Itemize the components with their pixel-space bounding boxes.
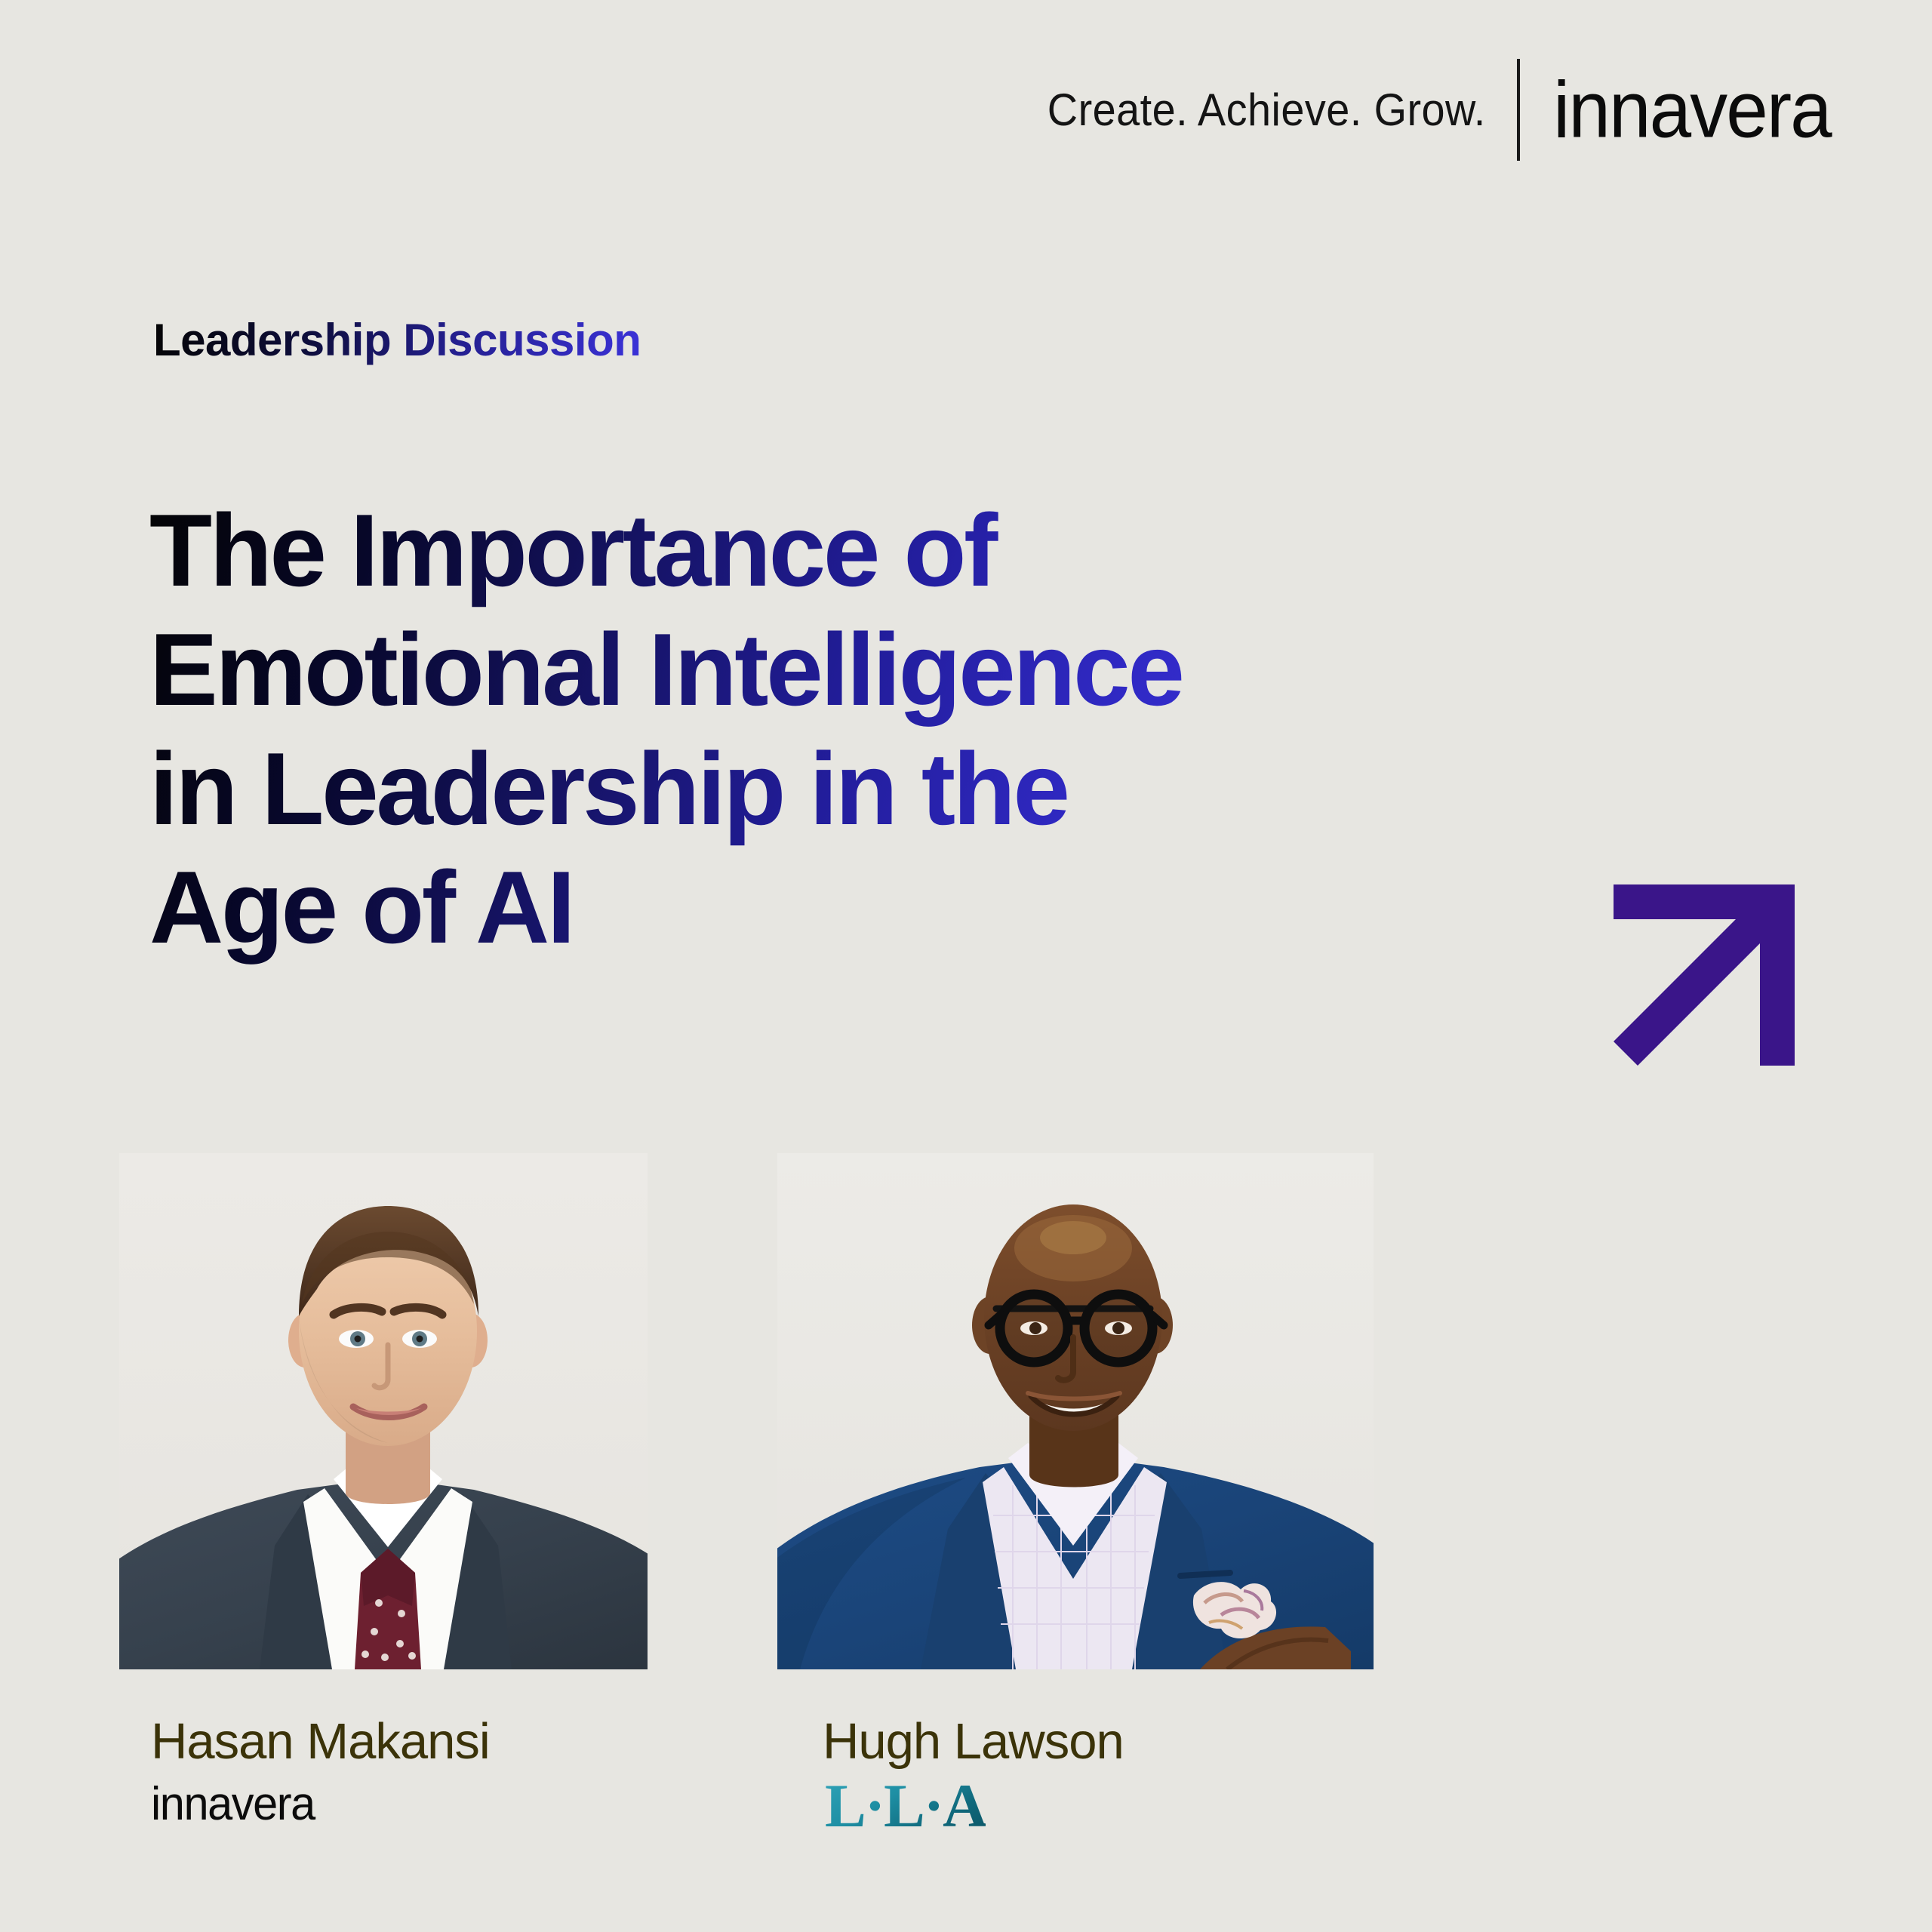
speaker-org-innavera: innavera xyxy=(151,1781,315,1828)
speaker-org-lla: L·L·A xyxy=(825,1775,986,1837)
brand-tagline: Create. Achieve. Grow. xyxy=(1048,88,1517,133)
speaker-name-hasan: Hasan Makansi xyxy=(151,1716,490,1767)
arrow-up-right-icon xyxy=(1603,874,1805,1076)
speaker-photo-hugh xyxy=(777,1153,1374,1669)
speaker-photo-hasan xyxy=(119,1153,648,1669)
brand-header: Create. Achieve. Grow. innavera xyxy=(1012,59,1844,161)
speaker-name-hugh: Hugh Lawson xyxy=(823,1716,1124,1767)
eyebrow-label: Leadership Discussion xyxy=(153,315,641,365)
page-title: The Importance of Emotional Intelligence… xyxy=(149,491,1327,968)
innavera-logo: innavera xyxy=(1520,69,1831,149)
poster-canvas: Create. Achieve. Grow. innavera Leadersh… xyxy=(0,0,1932,1932)
